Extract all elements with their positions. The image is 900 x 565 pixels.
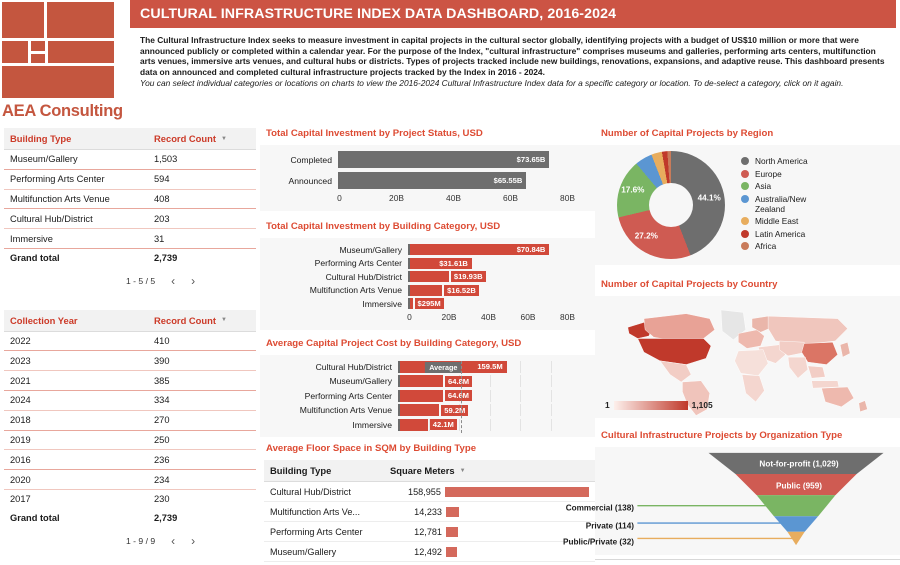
cell-count: 230 (154, 494, 250, 504)
map-legend-min: 1 (605, 400, 610, 410)
bar-fill[interactable]: $65.55B (340, 172, 527, 189)
left-column: Building Type Record Count ▼ Museum/Gall… (0, 128, 260, 565)
bar-fill[interactable]: $295M (410, 298, 413, 309)
table-row[interactable]: Performing Arts Center12,781 (264, 522, 595, 542)
table-row[interactable]: 2017 230 (4, 490, 256, 509)
bar-fill[interactable]: $70.84B (410, 244, 550, 255)
cell-label: 2024 (10, 395, 154, 405)
bar-track: $65.55B (338, 172, 587, 189)
donut-slice-label: 44.1% (698, 193, 721, 202)
middle-column: Total Capital Investment by Project Stat… (260, 128, 595, 565)
axis-tick-label: 20B (389, 193, 404, 203)
map-color-ramp (614, 401, 688, 410)
bar-value-label: $70.84B (517, 245, 550, 254)
intro-paragraph: The Cultural Infrastructure Index seeks … (130, 28, 896, 77)
chart-investment-by-category: Total Capital Investment by Building Cat… (260, 221, 595, 330)
chart-plot-area: Museum/Gallery$70.84BPerforming Arts Cen… (260, 238, 595, 330)
donut-slice-label: 17.6% (621, 185, 644, 194)
bar-track: 64.8M (398, 375, 587, 387)
aea-logo-icon (2, 2, 114, 98)
bar-fill[interactable]: $73.65B (340, 151, 550, 168)
map-legend: 1 1,105 (605, 400, 713, 410)
cell-value: 14,233 (390, 507, 442, 517)
cell-label: 2021 (10, 376, 154, 386)
bar-track: $16.52B (408, 285, 587, 296)
cell-label: 2020 (10, 475, 154, 485)
chart-plot-area[interactable]: 1 1,105 (595, 296, 900, 418)
gridline (490, 375, 491, 387)
legend-item[interactable]: Africa (741, 241, 833, 251)
cell-label: Performing Arts Center (270, 527, 390, 537)
bar-category-label: Multifunction Arts Venue (268, 405, 398, 415)
funnel-segment-label[interactable]: Public (959) (776, 482, 822, 491)
bar-track: $70.84B (408, 244, 587, 255)
legend-color-swatch (741, 230, 749, 238)
legend-label: Europe (755, 169, 782, 179)
donut-chart[interactable]: 44.1%27.2%17.6% (617, 151, 725, 259)
collection-year-table: Collection Year Record Count ▼ 2022 410 … (4, 310, 256, 548)
chart-title: Number of Capital Projects by Region (595, 128, 900, 145)
gridline (520, 375, 521, 387)
column-header-record-count[interactable]: Record Count ▼ (154, 315, 250, 326)
table-row[interactable]: Museum/Gallery12,492 (264, 542, 595, 562)
chart-title: Cultural Infrastructure Projects by Orga… (595, 430, 900, 447)
legend-label: Asia (755, 181, 771, 191)
dashboard-body: Building Type Record Count ▼ Museum/Gall… (0, 128, 900, 565)
average-annotation-label: Average (425, 362, 461, 373)
legend-color-swatch (741, 195, 749, 203)
chart-plot-area: 44.1%27.2%17.6% North AmericaEuropeAsiaA… (595, 145, 900, 265)
legend-item[interactable]: Middle East (741, 216, 833, 226)
cell-value: 158,955 (389, 487, 441, 497)
chart-title: Average Floor Space in SQM by Building T… (260, 443, 595, 460)
cell-value: 12,781 (390, 527, 442, 537)
next-page-icon[interactable]: › (191, 534, 195, 548)
legend-item[interactable]: Australia/New Zealand (741, 194, 833, 214)
cell-label: Multifunction Arts Ve... (270, 507, 390, 517)
axis-tick-label: 40B (446, 193, 461, 203)
legend-item[interactable]: Europe (741, 169, 833, 179)
chart-projects-by-region: Number of Capital Projects by Region 44.… (595, 128, 900, 265)
chart-projects-by-country: Number of Capital Projects by Country (595, 279, 900, 418)
gridline (551, 390, 552, 402)
bar-track: 42.1M (398, 419, 587, 431)
dashboard-header: AEA Consulting CULTURAL INFRASTRUCTURE I… (0, 0, 900, 128)
cell-count: 385 (154, 376, 250, 386)
table-row[interactable]: Multifunction Arts Ve...14,233 (264, 502, 595, 522)
cell-label: 2022 (10, 336, 154, 346)
column-header-building-type[interactable]: Building Type (270, 465, 390, 476)
pagination-range: 1 - 9 / 9 (126, 536, 155, 546)
bar-track: 64.6M (398, 390, 587, 402)
cell-count: 390 (154, 356, 250, 366)
table-total-row: Grand total 2,739 (4, 509, 256, 528)
bar-value-label: $31.61B (439, 259, 472, 268)
cell-label: 2019 (10, 435, 154, 445)
bar-row[interactable]: Performing Arts Center64.6M (268, 390, 587, 402)
total-value: 2,739 (154, 253, 250, 263)
table-row[interactable]: Cultural Hub/District 203 (4, 209, 256, 229)
table-header-row: Building Type Square Meters ▼ (264, 460, 595, 482)
cell-count: 250 (154, 435, 250, 445)
table-row[interactable]: Museum/Gallery 1,503 (4, 150, 256, 170)
bar-track: $19.93B (408, 271, 587, 282)
table-row[interactable]: 2018 270 (4, 411, 256, 431)
donut-hole (649, 183, 693, 227)
cell-label: Multifunction Arts Venue (10, 194, 154, 204)
total-label: Grand total (10, 253, 154, 263)
table-pagination: 1 - 9 / 9 ‹ › (4, 528, 256, 548)
bar-value-label: $65.55B (494, 176, 527, 185)
table-header-row: Collection Year Record Count ▼ (4, 310, 256, 332)
chart-plot-area: Cultural Hub/District159.5MMuseum/Galler… (260, 355, 595, 438)
header-main: CULTURAL INFRASTRUCTURE INDEX DATA DASHB… (130, 0, 900, 128)
bar-fill[interactable]: $19.93B (410, 271, 449, 282)
bar-category-label: Performing Arts Center (268, 258, 408, 268)
axis-tick-label: 60B (521, 312, 536, 322)
gridline (551, 404, 552, 416)
legend-label: North America (755, 156, 808, 166)
cell-bar (446, 507, 459, 517)
gridline (520, 390, 521, 402)
pagination-range: 1 - 5 / 5 (126, 276, 155, 286)
intro-instruction: You can select individual categories or … (130, 77, 896, 89)
bar-category-label: Cultural Hub/District (268, 362, 398, 372)
cell-label: Immersive (10, 234, 154, 244)
column-header-record-count[interactable]: Record Count ▼ (154, 133, 250, 144)
bar-category-label: Performing Arts Center (268, 391, 398, 401)
table-row[interactable]: Performing Arts Center 594 (4, 170, 256, 190)
cell-count: 203 (154, 214, 250, 224)
cell-label: Museum/Gallery (10, 154, 154, 164)
legend-color-swatch (741, 242, 749, 250)
table-row[interactable]: Cultural Hub/District158,955 (264, 482, 595, 502)
cell-count: 594 (154, 174, 250, 184)
column-header-square-meters[interactable]: Square Meters ▼ (390, 465, 589, 476)
table-row[interactable]: 2024 334 (4, 391, 256, 411)
legend-item[interactable]: Asia (741, 181, 833, 191)
gridline (490, 390, 491, 402)
bar-category-label: Museum/Gallery (268, 376, 398, 386)
bar-row[interactable]: Immersive$295M (268, 298, 587, 309)
legend-color-swatch (741, 182, 749, 190)
table-row[interactable]: Multifunction Arts Venue 408 (4, 190, 256, 210)
gridline (490, 404, 491, 416)
chart-plot-area: Completed$73.65BAnnounced$65.55B020B40B6… (260, 145, 595, 211)
chart-avg-floor-space: Average Floor Space in SQM by Building T… (260, 443, 595, 565)
bar-fill[interactable]: 64.6M (400, 390, 443, 402)
bar-value-label: 64.8M (445, 376, 472, 387)
bar-row[interactable]: Multifunction Arts Venue59.2M (268, 404, 587, 416)
axis-tick-label: 40B (481, 312, 496, 322)
logo-block: AEA Consulting (0, 0, 130, 128)
bar-value-label: $295M (415, 298, 444, 309)
gridline (551, 361, 552, 373)
gridline (520, 361, 521, 373)
cell-label: 2016 (10, 455, 154, 465)
legend-color-swatch (741, 157, 749, 165)
cell-label: Performing Arts Center (10, 174, 154, 184)
bar-category-label: Museum/Gallery (268, 245, 408, 255)
table-row[interactable]: 2019 250 (4, 431, 256, 451)
axis-tick-label: 20B (442, 312, 457, 322)
cell-count: 1,503 (154, 154, 250, 164)
donut-slice-label: 27.2% (635, 232, 658, 241)
chart-legend: North AmericaEuropeAsiaAustralia/New Zea… (741, 156, 833, 254)
total-label: Grand total (10, 513, 154, 523)
bar-value-label: $73.65B (517, 155, 550, 164)
cell-label: Cultural Hub/District (270, 487, 389, 497)
bar-category-label: Multifunction Arts Venue (268, 285, 408, 295)
bar-row[interactable]: Immersive42.1M (268, 419, 587, 431)
bar-row[interactable]: Cultural Hub/District$19.93B (268, 271, 587, 282)
bar-track: $73.65B (338, 151, 587, 168)
cell-label: Museum/Gallery (270, 547, 390, 557)
bar-row[interactable]: Performing Arts Center$31.61B (268, 258, 587, 269)
table-total-row: Grand total 2,739 (4, 249, 256, 268)
map-legend-max: 1,105 (692, 400, 713, 410)
bar-category-label: Completed (268, 155, 338, 165)
column-header-record-count-label: Record Count (154, 315, 216, 326)
chart-projects-by-org-type: Cultural Infrastructure Projects by Orga… (595, 430, 900, 560)
floor-space-table: Building Type Square Meters ▼ Cultural H… (260, 460, 595, 565)
cell-label: Cultural Hub/District (10, 214, 154, 224)
axis-tick-label: 80B (560, 312, 575, 322)
cell-count: 270 (154, 415, 250, 425)
chart-title: Total Capital Investment by Building Cat… (260, 221, 595, 238)
table-row[interactable]: 2020 234 (4, 470, 256, 490)
table-header-row: Building Type Record Count ▼ (4, 128, 256, 150)
next-page-icon[interactable]: › (191, 274, 195, 288)
gridline (459, 419, 460, 431)
bar-track: $295M (408, 298, 587, 309)
prev-page-icon[interactable]: ‹ (171, 274, 175, 288)
bar-value-label: 42.1M (430, 419, 457, 430)
gridline (551, 419, 552, 431)
building-type-table: Building Type Record Count ▼ Museum/Gall… (4, 128, 256, 288)
sort-descending-icon[interactable]: ▼ (460, 468, 466, 474)
cell-count: 234 (154, 475, 250, 485)
legend-label: Latin America (755, 229, 805, 239)
bar-fill[interactable]: 42.1M (400, 419, 428, 431)
axis-tick-label: 0 (407, 312, 412, 322)
bar-fill[interactable]: $16.52B (410, 285, 443, 296)
cell-count: 31 (154, 234, 250, 244)
chart-title: Average Capital Project Cost by Building… (260, 338, 595, 355)
bar-track: $31.61B (408, 258, 587, 269)
cell-label: 2023 (10, 356, 154, 366)
prev-page-icon[interactable]: ‹ (171, 534, 175, 548)
bar-category-label: Announced (268, 176, 338, 186)
page-title: CULTURAL INFRASTRUCTURE INDEX DATA DASHB… (130, 0, 896, 28)
table-row[interactable]: 2021 385 (4, 371, 256, 391)
column-header-square-meters-label: Square Meters (390, 465, 455, 476)
gridline (490, 419, 491, 431)
chart-plot-area: Not-for-profit (1,029) Public (959) Comm… (595, 447, 900, 555)
bar-row[interactable]: Museum/Gallery64.8M (268, 375, 587, 387)
bar-row[interactable]: Announced$65.55B (268, 172, 587, 189)
bar-track: 59.2M (398, 404, 587, 416)
table-row[interactable]: 2022 410 (4, 332, 256, 352)
column-header-collection-year[interactable]: Collection Year (10, 315, 154, 326)
cell-bar (445, 487, 589, 497)
cell-count: 236 (154, 455, 250, 465)
legend-label: Australia/New Zealand (755, 194, 833, 214)
table-row[interactable]: 2023 390 (4, 351, 256, 371)
bar-category-label: Immersive (268, 420, 398, 430)
cell-count: 408 (154, 194, 250, 204)
total-value: 2,739 (154, 513, 250, 523)
funnel-segment-label[interactable]: Public/Private (32) (563, 538, 634, 547)
chart-title: Total Capital Investment by Project Stat… (260, 128, 595, 145)
gridline (520, 419, 521, 431)
funnel-segment-label[interactable]: Commercial (138) (566, 504, 634, 513)
sort-descending-icon[interactable]: ▼ (221, 317, 227, 323)
x-axis: 020B40B60B80B (268, 312, 587, 326)
bar-category-label: Immersive (268, 299, 408, 309)
bar-value-label: $19.93B (451, 271, 486, 282)
cell-bar (446, 547, 457, 557)
bar-category-label: Cultural Hub/District (268, 272, 408, 282)
column-header-record-count-label: Record Count (154, 133, 216, 144)
axis-tick-label: 60B (503, 193, 518, 203)
axis-tick-label: 80B (560, 193, 575, 203)
bar-row[interactable]: Completed$73.65B (268, 151, 587, 168)
bar-fill[interactable]: $31.61B (410, 258, 472, 269)
cell-count: 410 (154, 336, 250, 346)
column-header-building-type[interactable]: Building Type (10, 133, 154, 144)
average-reference-line (461, 361, 462, 434)
chart-title: Number of Capital Projects by Country (595, 279, 900, 296)
cell-label: 2018 (10, 415, 154, 425)
right-column: Number of Capital Projects by Region 44.… (595, 128, 900, 565)
chart-investment-by-status: Total Capital Investment by Project Stat… (260, 128, 595, 211)
legend-color-swatch (741, 170, 749, 178)
bar-fill[interactable]: 59.2M (400, 404, 440, 416)
axis-tick-label: 0 (337, 193, 342, 203)
footer-divider (595, 559, 900, 560)
legend-item[interactable]: North America (741, 156, 833, 166)
cell-value: 12,492 (390, 547, 442, 557)
table-row[interactable]: Immersive 31 (4, 229, 256, 249)
legend-label: Africa (755, 241, 776, 251)
funnel-shape[interactable] (599, 449, 895, 549)
table-row[interactable]: 2016 236 (4, 450, 256, 470)
x-axis: 020B40B60B80B (268, 193, 587, 207)
legend-item[interactable]: Latin America (741, 229, 833, 239)
bar-value-label: $16.52B (444, 285, 479, 296)
legend-color-swatch (741, 217, 749, 225)
cell-label: 2017 (10, 494, 154, 504)
dashboard-page: AEA Consulting CULTURAL INFRASTRUCTURE I… (0, 0, 900, 565)
sort-descending-icon[interactable]: ▼ (221, 136, 227, 142)
bar-row[interactable]: Museum/Gallery$70.84B (268, 244, 587, 255)
gridline (551, 375, 552, 387)
logo-text: AEA Consulting (2, 102, 130, 121)
funnel-segment-label[interactable]: Not-for-profit (1,029) (759, 460, 838, 469)
gridline (520, 404, 521, 416)
cell-count: 334 (154, 395, 250, 405)
legend-label: Middle East (755, 216, 798, 226)
bar-value-label: 59.2M (441, 405, 468, 416)
bar-row[interactable]: Multifunction Arts Venue$16.52B (268, 285, 587, 296)
bar-fill[interactable]: 64.8M (400, 375, 444, 387)
bar-value-label: 64.6M (445, 390, 472, 401)
chart-avg-cost-by-category: Average Capital Project Cost by Building… (260, 338, 595, 438)
cell-bar (446, 527, 458, 537)
table-pagination: 1 - 5 / 5 ‹ › (4, 268, 256, 288)
bar-value-label: 159.5M (477, 362, 506, 371)
funnel-segment-label[interactable]: Private (114) (586, 522, 634, 531)
